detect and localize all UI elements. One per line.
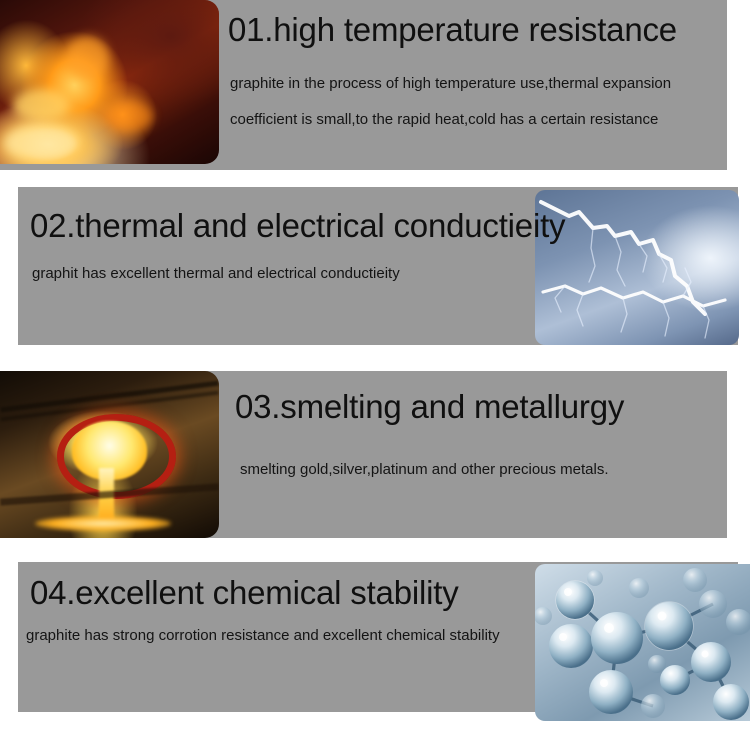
molecule-spheres-photo (535, 564, 750, 721)
fire-artwork (0, 0, 219, 164)
panel-description-03: smelting gold,silver,platinum and other … (240, 452, 710, 488)
molecule-artwork (535, 564, 750, 721)
molten-metal-artwork (0, 371, 219, 538)
lightning-bolt-icon (535, 190, 739, 345)
fire-flames-photo (0, 0, 219, 164)
panel-description-01: graphite in the process of high temperat… (230, 66, 696, 138)
panel-title-04: 04.excellent chemical stability (30, 575, 530, 611)
panel-description-02: graphit has excellent thermal and electr… (32, 256, 512, 292)
molten-metal-pour-photo (0, 371, 219, 538)
lightning-bolt-photo (535, 190, 739, 345)
panel-title-01: 01.high temperature resistance (228, 12, 728, 48)
lightning-artwork (535, 190, 739, 345)
panel-title-03: 03.smelting and metallurgy (235, 389, 715, 425)
panel-description-04: graphite has strong corrotion resistance… (26, 618, 538, 654)
molecule-structure-icon (535, 564, 750, 721)
molten-pool (35, 516, 171, 531)
panel-title-02: 02.thermal and electrical conductieity (30, 208, 530, 244)
